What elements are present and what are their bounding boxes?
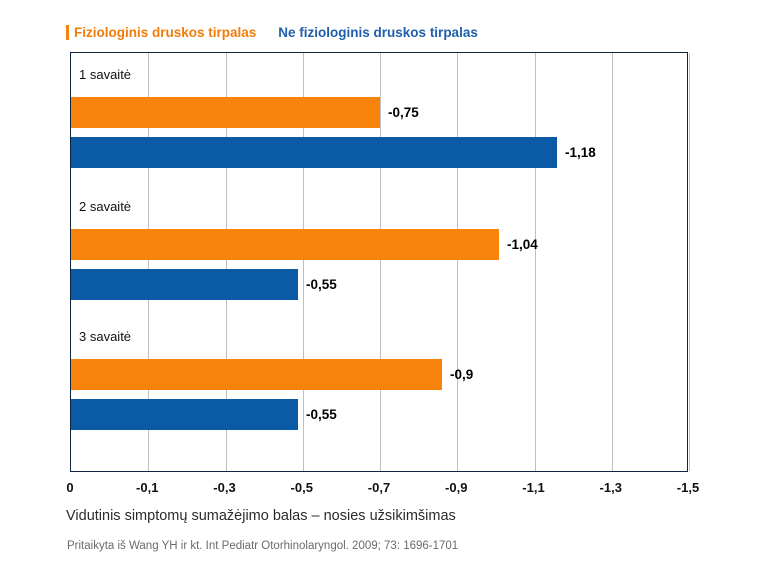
x-axis-title: Vidutinis simptomų sumažėjimo balas – no… [66,508,456,524]
bar-value-label: -1,18 [565,137,596,168]
bar [71,229,499,260]
group-label: 2 savaitė [79,199,131,214]
x-tick-label: -1,5 [677,480,699,495]
group-label: 1 savaitė [79,67,131,82]
legend-item-non-saline: Ne fiziologinis druskos tirpalas [278,25,478,40]
plot-area: 1 savaitė-0,75-1,182 savaitė-1,04-0,553 … [70,52,688,472]
group-label: 3 savaitė [79,329,131,344]
bar-value-label: -0,55 [306,399,337,430]
x-tick-label: -0,1 [136,480,158,495]
legend-item-saline: Fiziologinis druskos tirpalas [66,25,256,40]
legend-label-non-saline: Ne fiziologinis druskos tirpalas [278,25,478,40]
bar [71,269,298,300]
bar-value-label: -0,9 [450,359,473,390]
x-tick-label: -0,9 [445,480,467,495]
bar [71,137,557,168]
chart-legend: Fiziologinis druskos tirpalas Ne fiziolo… [66,22,478,42]
gridline [689,53,690,471]
chart-container: Fiziologinis druskos tirpalas Ne fiziolo… [0,0,770,575]
source-citation: Pritaikyta iš Wang YH ir kt. Int Pediatr… [67,540,458,552]
bars-layer: 1 savaitė-0,75-1,182 savaitė-1,04-0,553 … [71,53,687,471]
x-tick-label: -0,3 [213,480,235,495]
legend-label-saline: Fiziologinis druskos tirpalas [74,25,256,40]
x-tick-label: -0,5 [291,480,313,495]
legend-swatch-saline [66,25,69,40]
x-tick-label: -0,7 [368,480,390,495]
bar-value-label: -0,55 [306,269,337,300]
bar-value-label: -1,04 [507,229,538,260]
bar-value-label: -0,75 [388,97,419,128]
x-tick-label: -1,1 [522,480,544,495]
bar [71,359,442,390]
x-tick-label: -1,3 [600,480,622,495]
x-tick-label: 0 [66,480,73,495]
bar [71,97,380,128]
bar [71,399,298,430]
